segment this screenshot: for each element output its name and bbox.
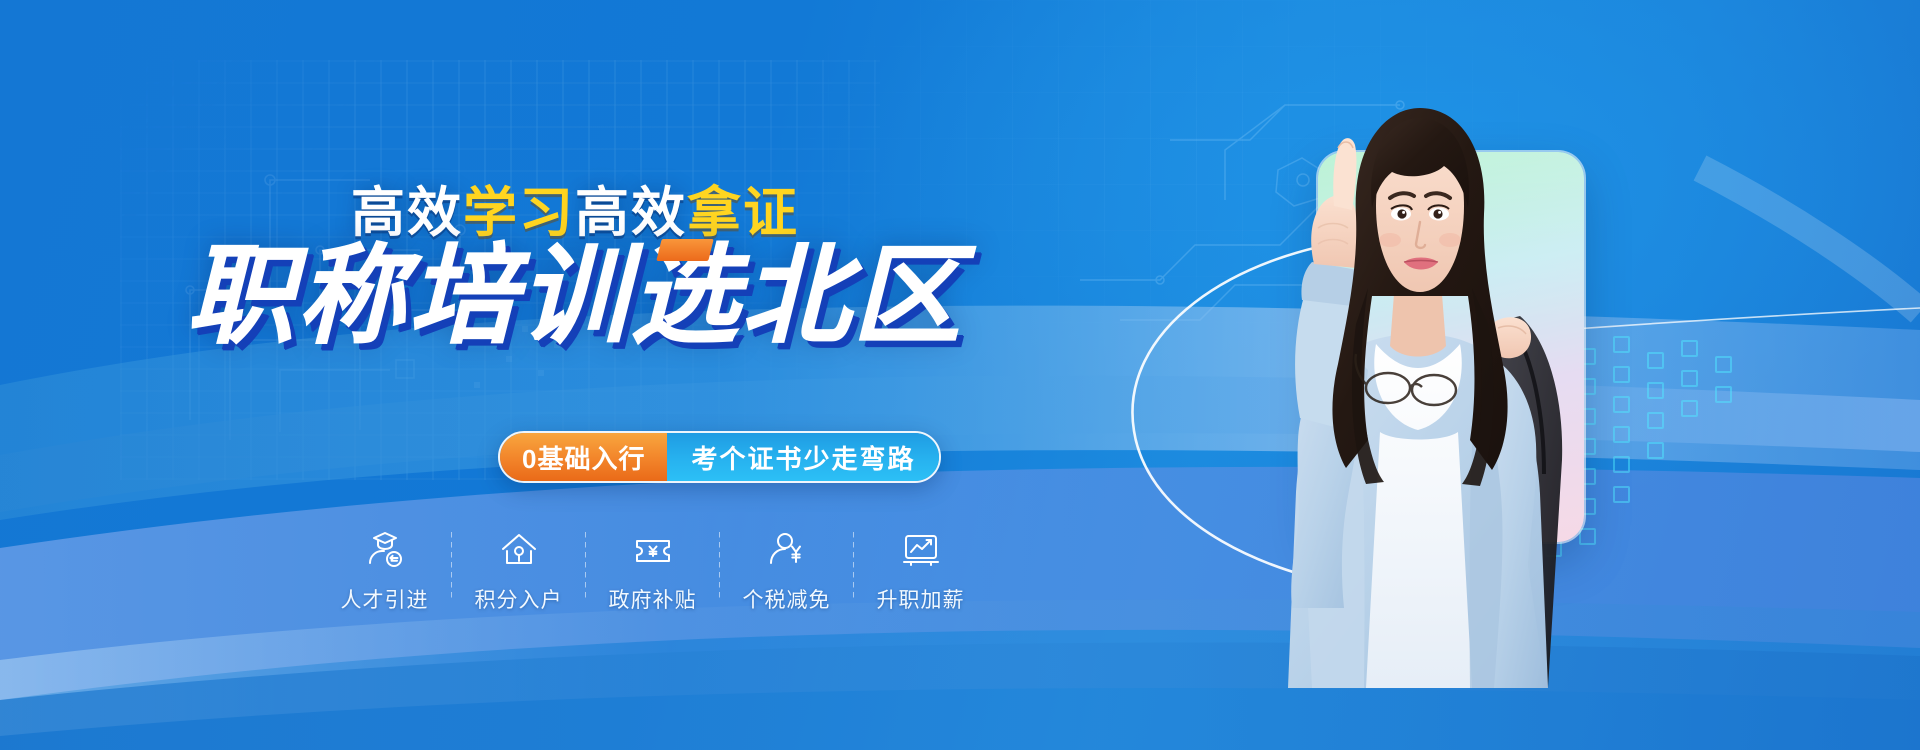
feature-item-subsidy[interactable]: 政府补贴 — [586, 528, 719, 614]
feature-divider — [853, 532, 854, 598]
badge-left-label: 0基础入行 — [500, 433, 667, 481]
headline-text: 高效学习高效拿证 — [0, 186, 1150, 240]
feature-label: 政府补贴 — [609, 584, 697, 614]
feature-item-promotion[interactable]: 升职加薪 — [854, 528, 987, 614]
person-yuan-icon — [766, 528, 808, 572]
feature-label: 升职加薪 — [877, 584, 965, 614]
feature-item-tax-relief[interactable]: 个税减免 — [720, 528, 853, 614]
graduate-person-icon — [364, 528, 406, 572]
feature-divider — [719, 532, 720, 598]
feature-item-talent[interactable]: 人才引进 — [318, 528, 451, 614]
main-title: 职称培训选北区 — [0, 238, 1150, 355]
headline-seg-4: 拿证 — [687, 183, 799, 243]
feature-label: 个税减免 — [743, 584, 831, 614]
orange-accent-chip-icon — [656, 239, 713, 261]
promo-banner: 高效学习高效拿证 职称培训选北区 0基础入行 考个证书少走弯路 人才引进 — [0, 0, 1920, 750]
chart-board-icon — [900, 528, 942, 572]
headline-seg-3: 高效 — [575, 183, 687, 243]
feature-label: 积分入户 — [475, 584, 563, 614]
headline-seg-1: 高效 — [351, 183, 463, 243]
feature-list: 人才引进 积分入户 — [318, 528, 987, 614]
badge-right-label: 考个证书少走弯路 — [667, 433, 939, 481]
feature-item-points-residency[interactable]: 积分入户 — [452, 528, 585, 614]
ticket-yuan-icon — [632, 528, 674, 572]
model-photo-woman — [1248, 88, 1678, 688]
house-pin-icon — [498, 528, 540, 572]
promo-badge[interactable]: 0基础入行 考个证书少走弯路 — [498, 431, 941, 483]
feature-label: 人才引进 — [341, 584, 429, 614]
main-title-text: 职称培训选北区 — [186, 238, 963, 355]
headline-seg-2: 学习 — [463, 183, 575, 243]
feature-divider — [451, 532, 452, 598]
feature-divider — [585, 532, 586, 598]
